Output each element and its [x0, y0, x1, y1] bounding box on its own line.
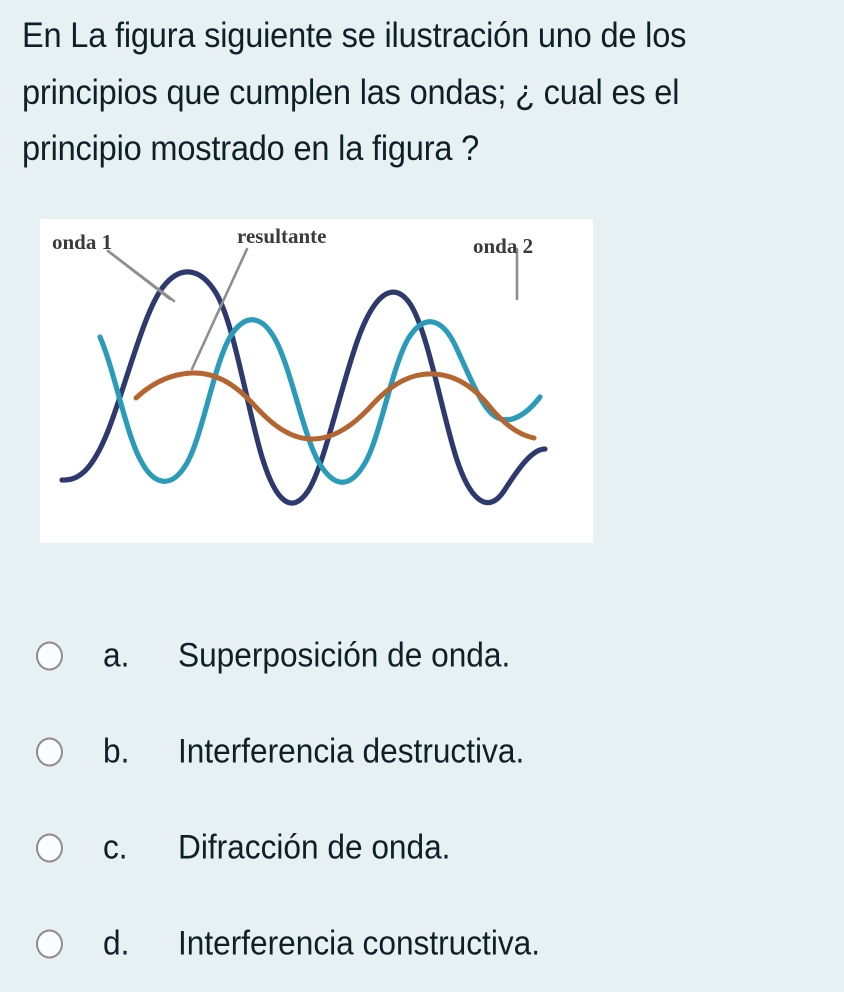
option-text-b: Interferencia destructiva.	[178, 733, 524, 772]
option-text-a: Superposición de onda.	[178, 637, 510, 676]
option-letter-c: c.	[103, 829, 128, 868]
option-letter-d: d.	[103, 925, 129, 964]
answer-options-list: a. Superposición de onda. b. Interferenc…	[0, 608, 844, 992]
option-text-c: Difracción de onda.	[178, 829, 450, 868]
question-stem: En La figura siguiente se ilustración un…	[22, 8, 777, 178]
wave1-label: onda 1	[52, 230, 112, 254]
option-row-b[interactable]: b. Interferencia destructiva.	[0, 704, 844, 800]
radio-button-c[interactable]	[36, 834, 63, 863]
option-letter-a: a.	[103, 637, 129, 676]
wave-figure-svg: onda 1 resultante onda 2	[40, 219, 593, 543]
wave1-leader-line-visible	[108, 251, 174, 301]
radio-button-a[interactable]	[36, 642, 63, 671]
option-row-d[interactable]: d. Interferencia constructiva.	[0, 896, 844, 992]
option-row-a[interactable]: a. Superposición de onda.	[0, 608, 844, 704]
radio-button-b[interactable]	[36, 738, 63, 767]
resultant-leader-line	[192, 249, 247, 369]
resultant-label: resultante	[237, 224, 326, 248]
radio-button-d[interactable]	[36, 930, 63, 959]
option-letter-b: b.	[103, 733, 129, 772]
option-row-c[interactable]: c. Difracción de onda.	[0, 800, 844, 896]
wave2-label: onda 2	[473, 234, 533, 258]
wave-figure-panel: onda 1 resultante onda 2	[40, 219, 593, 543]
option-text-d: Interferencia constructiva.	[178, 925, 540, 964]
